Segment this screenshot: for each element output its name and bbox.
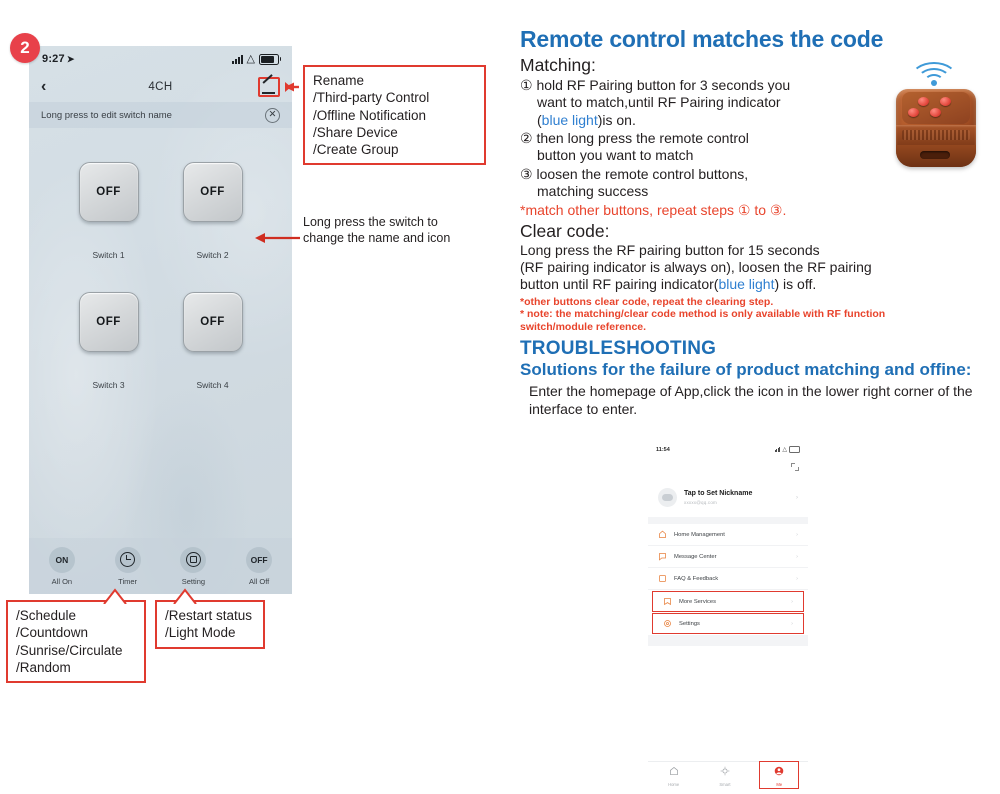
location-arrow-icon: ➤: [67, 54, 75, 64]
pencil-edit-icon: [263, 81, 276, 94]
battery-full-icon: [259, 54, 279, 65]
tab-home-label: Home: [657, 782, 691, 787]
callout-timer-line-1: /Countdown: [16, 624, 136, 641]
chevron-right-icon: ›: [796, 532, 798, 538]
chevron-right-icon: ›: [796, 495, 798, 501]
bottom-tab-bar: Home Smart Me: [648, 761, 808, 788]
switch-state-4: OFF: [200, 316, 225, 328]
back-button[interactable]: ‹: [41, 78, 63, 96]
scan-qr-icon: [791, 463, 799, 471]
step-1-blue-light: blue light: [542, 112, 598, 128]
enter-homepage-text: Enter the homepage of App,click the icon…: [529, 383, 990, 418]
switch-cell: OFF Switch 2: [175, 162, 251, 260]
chevron-right-icon: ›: [791, 621, 793, 627]
remote-button-d: [930, 108, 941, 117]
callout-rename-options: Rename /Third-party Control /Offline Not…: [303, 65, 486, 165]
all-off-label: All Off: [233, 577, 285, 586]
switch-label-3: Switch 3: [71, 380, 147, 390]
phone2-status-time: 11:54: [656, 447, 670, 453]
message-icon: [658, 552, 667, 561]
small-note-1: * note: the matching/clear code method i…: [520, 308, 990, 321]
phone-screenshot-device-page: 9:27➤ △ ‹ 4CH Long press to edit switch …: [29, 46, 292, 594]
switch-button-3[interactable]: OFF: [79, 292, 139, 352]
profile-text-group: Tap to Set Nickname xxxxx@qq.com: [684, 490, 752, 505]
switch-state-1: OFF: [96, 186, 121, 198]
bottom-action-bar: ON All On Timer Setting OFF All Off: [29, 538, 292, 594]
callout-rename-line-1: /Third-party Control: [313, 89, 476, 106]
clear-line-0: Long press the RF pairing button for 15 …: [520, 242, 990, 259]
row-spacer: [29, 260, 292, 292]
callout-setting-options: /Restart status /Light Mode: [155, 600, 265, 649]
step-3-line2: matching success: [520, 183, 990, 200]
step-3-number: ③: [520, 166, 533, 182]
remote-body: [896, 89, 976, 167]
smart-tab-icon: [720, 766, 730, 776]
phone2-status-indicators: △: [775, 446, 800, 453]
faq-icon: [658, 574, 667, 583]
callout-timer-line-0: /Schedule: [16, 607, 136, 624]
repeat-steps-note: *match other buttons, repeat steps ① to …: [520, 202, 990, 219]
gear-icon: [663, 619, 672, 628]
menu-label-settings: Settings: [679, 621, 700, 627]
step-1-line1: hold RF Pairing button for 3 seconds you: [536, 77, 790, 93]
solutions-heading: Solutions for the failure of product mat…: [520, 360, 990, 379]
switch-label-2: Switch 2: [175, 250, 251, 260]
power-off-icon: OFF: [246, 547, 272, 573]
callout-timer-line-3: /Random: [16, 659, 136, 676]
rename-callout-arrow: [285, 81, 305, 93]
switch-button-2[interactable]: OFF: [183, 162, 243, 222]
tab-me[interactable]: Me: [759, 761, 799, 789]
clock-timer-icon: [115, 547, 141, 573]
small-note-0: *other buttons clear code, repeat the cl…: [520, 296, 990, 309]
tab-smart[interactable]: Smart: [708, 763, 742, 787]
timer-callout-pointer: [100, 588, 130, 604]
all-on-button[interactable]: ON All On: [36, 547, 88, 586]
wifi-signal-arcs-icon: [910, 62, 958, 84]
clear-last-pre: button until RF pairing indicator(: [520, 276, 718, 292]
callout-setting-line-0: /Restart status: [165, 607, 255, 624]
timer-label: Timer: [102, 577, 154, 586]
wifi-icon: △: [247, 54, 255, 65]
switch-cell: OFF Switch 4: [175, 292, 251, 390]
setting-button[interactable]: Setting: [167, 547, 219, 586]
hint-text: Long press to edit switch name: [41, 110, 172, 121]
menu-label-more-services: More Services: [679, 599, 716, 605]
remote-button-c: [908, 108, 919, 117]
clear-blue-light: blue light: [718, 276, 774, 292]
close-circle-icon[interactable]: ✕: [265, 108, 280, 123]
callout-timer-line-2: /Sunrise/Circulate: [16, 642, 136, 659]
troubleshooting-heading: TROUBLESHOOTING: [520, 338, 990, 360]
phone2-status-bar: 11:54 △: [648, 443, 808, 453]
rf-remote-control-image: [880, 62, 990, 177]
menu-label-message-center: Message Center: [674, 554, 717, 560]
step-1-line3-post: )is on.: [598, 112, 636, 128]
step-2-line1: then long press the remote control: [536, 130, 748, 146]
tab-me-label: Me: [762, 782, 796, 787]
clear-code-heading: Clear code:: [520, 221, 990, 242]
switch-label-1: Switch 1: [71, 250, 147, 260]
status-time-text: 9:27: [42, 53, 65, 65]
cellular-signal-icon: [232, 55, 243, 64]
home-icon: [658, 530, 667, 539]
step-3-line1: loosen the remote control buttons,: [536, 166, 748, 182]
switch-row-2: OFF Switch 3 OFF Switch 4: [29, 292, 292, 390]
tab-smart-label: Smart: [708, 782, 742, 787]
menu-item-more-services[interactable]: More Services ›: [652, 591, 804, 612]
profile-header[interactable]: Tap to Set Nickname xxxxx@qq.com ›: [648, 476, 808, 517]
switch-grid: OFF Switch 1 OFF Switch 2 OFF Switch 3 O…: [29, 128, 292, 390]
remote-button-a: [918, 97, 929, 106]
services-icon: [663, 597, 672, 606]
switch-row-1: OFF Switch 1 OFF Switch 2: [29, 162, 292, 260]
wifi-icon: △: [782, 447, 787, 453]
switch-button-1[interactable]: OFF: [79, 162, 139, 222]
small-note-2: switch/module reference.: [520, 321, 990, 334]
callout-rename-line-2: /Offline Notification: [313, 107, 476, 124]
all-off-button[interactable]: OFF All Off: [233, 547, 285, 586]
switch-label-4: Switch 4: [175, 380, 251, 390]
step-1-number: ①: [520, 77, 533, 93]
hint-bar: Long press to edit switch name ✕: [29, 102, 292, 128]
clear-code-notes: *other buttons clear code, repeat the cl…: [520, 296, 990, 334]
cellular-signal-icon: [775, 447, 781, 452]
page-title: 4CH: [63, 81, 258, 93]
nav-bar: ‹ 4CH: [29, 72, 292, 102]
status-bar-time: 9:27➤: [42, 53, 75, 65]
user-avatar-icon: [658, 488, 677, 507]
switch-state-2: OFF: [200, 186, 225, 198]
email-label: xxxxx@qq.com: [684, 500, 752, 505]
callout-timer-options: /Schedule /Countdown /Sunrise/Circulate …: [6, 600, 146, 683]
switch-cell: OFF Switch 1: [71, 162, 147, 260]
menu-item-faq-feedback[interactable]: FAQ & Feedback ›: [648, 568, 808, 590]
battery-icon: [789, 446, 800, 453]
content-spacer: [648, 635, 808, 646]
setting-label: Setting: [167, 577, 219, 586]
clear-line-2: button until RF pairing indicator(blue l…: [520, 276, 990, 293]
clear-code-body: Long press the RF pairing button for 15 …: [520, 242, 990, 294]
tab-home[interactable]: Home: [657, 763, 691, 787]
scan-qr-button[interactable]: [648, 453, 808, 476]
home-tab-icon: [669, 766, 679, 776]
remote-mid-band: [896, 125, 976, 147]
edit-button[interactable]: [258, 77, 280, 97]
menu-item-settings[interactable]: Settings ›: [652, 613, 804, 634]
status-bar-indicators: △: [232, 54, 279, 65]
section-divider: [648, 517, 808, 524]
callout-setting-line-1: /Light Mode: [165, 624, 255, 641]
timer-button[interactable]: Timer: [102, 547, 154, 586]
all-on-label: All On: [36, 577, 88, 586]
clear-line-1: (RF pairing indicator is always on), loo…: [520, 259, 990, 276]
gear-setting-icon: [180, 547, 206, 573]
clear-last-post: ) is off.: [774, 276, 816, 292]
page-root: 2 9:27➤ △ ‹ 4CH Long press to edit switc…: [0, 0, 1000, 794]
section-title-remote-matching: Remote control matches the code: [520, 26, 990, 53]
all-on-icon-text: ON: [56, 555, 69, 565]
setting-callout-pointer: [170, 588, 200, 604]
switch-state-3: OFF: [96, 316, 121, 328]
callout-rename-line-4: /Create Group: [313, 141, 476, 158]
callout-long-press-switch: Long press the switch to change the name…: [303, 214, 463, 246]
chevron-right-icon: ›: [796, 576, 798, 582]
menu-label-home-management: Home Management: [674, 532, 725, 538]
chevron-right-icon: ›: [791, 599, 793, 605]
callout-rename-line-3: /Share Device: [313, 124, 476, 141]
nickname-label: Tap to Set Nickname: [684, 490, 752, 498]
switch-button-4[interactable]: OFF: [183, 292, 243, 352]
step-number-badge: 2: [10, 33, 40, 63]
switch-annotation-arrow: [255, 232, 300, 244]
me-tab-icon: [774, 766, 784, 776]
all-off-icon-text: OFF: [251, 555, 268, 565]
power-on-icon: ON: [49, 547, 75, 573]
switch-cell: OFF Switch 3: [71, 292, 147, 390]
menu-label-faq-feedback: FAQ & Feedback: [674, 576, 718, 582]
chevron-right-icon: ›: [796, 554, 798, 560]
step-2-number: ②: [520, 130, 533, 146]
phone-screenshot-profile-page: 11:54 △ Tap to Set Nickname xxxxx@qq.com…: [648, 443, 808, 788]
remote-button-b: [940, 97, 951, 106]
callout-rename-line-0: Rename: [313, 72, 476, 89]
menu-item-home-management[interactable]: Home Management ›: [648, 524, 808, 546]
remote-bottom-band: [896, 145, 976, 167]
menu-item-message-center[interactable]: Message Center ›: [648, 546, 808, 568]
status-bar: 9:27➤ △: [29, 46, 292, 72]
